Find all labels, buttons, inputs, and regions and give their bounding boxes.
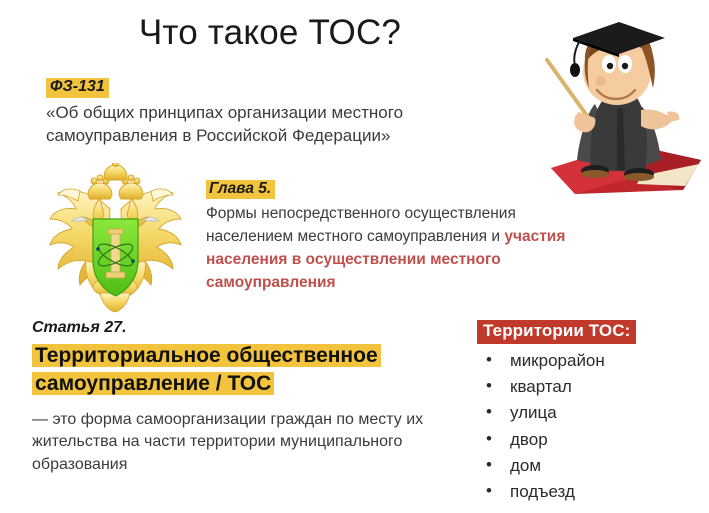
article-title-line-1: Территориальное общественное [32, 344, 381, 367]
chapter-text-plain: Формы непосредственного осуществления на… [206, 205, 516, 245]
list-item: подъезд [477, 479, 692, 505]
graduate-right-hand [641, 109, 679, 129]
list-item: микрорайон [477, 348, 692, 374]
law-label: ФЗ-131 [46, 78, 109, 98]
slide-canvas: Что такое ТОС? [0, 0, 709, 513]
territories-title: Территории ТОС: [477, 320, 636, 344]
page-title: Что такое ТОС? [0, 13, 540, 53]
territories-panel: Территории ТОС: микрорайон квартал улица… [477, 320, 692, 506]
article-title: Территориальное общественное самоуправле… [32, 342, 452, 397]
article-block: Статья 27. Территориальное общественное … [32, 318, 452, 477]
chapter-text: Формы непосредственного осуществления на… [206, 203, 566, 294]
russian-eagle-emblem-icon [38, 163, 193, 313]
territories-list: микрорайон квартал улица двор дом подъез… [477, 348, 692, 506]
chapter-label: Глава 5. [206, 180, 275, 199]
article-label: Статья 27. [32, 318, 452, 337]
list-item: улица [477, 400, 692, 426]
list-item: квартал [477, 374, 692, 400]
chapter-reference-block: Глава 5. Формы непосредственного осущест… [206, 180, 566, 294]
graduate-illustration [533, 8, 709, 196]
law-reference-block: ФЗ-131 «Об общих принципах организации м… [46, 78, 476, 148]
article-body: — это форма самоорганизации граждан по м… [32, 409, 452, 477]
law-text: «Об общих принципах организации местного… [46, 101, 476, 148]
article-title-line-2: самоуправление / ТОС [32, 372, 274, 395]
list-item: дом [477, 453, 692, 479]
list-item: двор [477, 427, 692, 453]
